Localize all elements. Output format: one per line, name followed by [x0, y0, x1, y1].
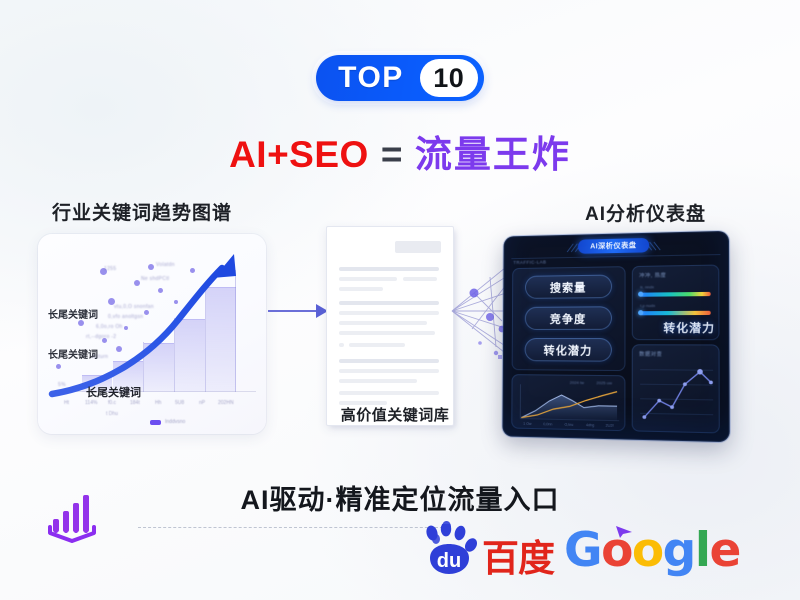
document-text-line — [339, 379, 417, 383]
document-text-line — [349, 343, 405, 347]
footer-slogan: AI驱动·精准定位流量入口 — [0, 478, 800, 517]
gauge-sub-label: tr, nndx — [640, 284, 654, 289]
document-text-line — [403, 277, 437, 281]
purple-cursor-arrow-icon — [614, 525, 636, 539]
document-caption: 高价值关键词库 — [327, 404, 463, 425]
top-badge-container: TOP 10 — [0, 55, 800, 101]
bar-chart-podium-icon — [44, 487, 106, 545]
footer-divider — [138, 527, 448, 528]
area-x-tick: 0,0nn — [543, 422, 552, 426]
document-text-line — [339, 287, 383, 291]
x-tick: f0.c — [108, 400, 116, 406]
trend-chart-plot: 1255 Volatdn Ne shdPCtl vtu,0,O snonfan … — [38, 234, 266, 434]
title-part-aiseo: AI+SEO — [229, 134, 369, 175]
dashboard-brand-label: TRAFFIC-LAB — [513, 259, 546, 265]
gauge-bar-competition — [640, 311, 711, 315]
baidu-du-text: du — [437, 550, 461, 572]
gauge-handle[interactable] — [638, 310, 643, 315]
x-tick: nP — [199, 400, 205, 406]
blurred-term: vtu,0,O snonfan — [114, 304, 154, 310]
document-text-line — [339, 391, 439, 395]
right-section-caption: AI分析仪表盘 — [585, 199, 706, 226]
document-text-line — [339, 277, 397, 281]
area-x-tick: O,tnu — [564, 423, 573, 427]
keyword-bubble — [134, 280, 140, 286]
line-chart-svg — [632, 344, 720, 433]
baidu-logo: du 百度 — [420, 524, 554, 576]
metric-button-conversion[interactable]: 转化潜力 — [525, 338, 612, 362]
document-header-chip — [395, 241, 441, 253]
blurred-term: rt,--dgoro -2 — [86, 334, 116, 340]
flow-arrow-icon — [268, 300, 330, 322]
x-tick: 202HN — [218, 400, 234, 406]
keyword-bubble — [174, 300, 178, 304]
top-badge: TOP 10 — [316, 55, 484, 101]
keyword-bubble — [158, 288, 163, 293]
google-logo: G o o g l e — [564, 527, 740, 574]
x-tick: 5U8 — [175, 400, 184, 406]
google-letter-o2: o — [632, 527, 663, 574]
x-tick: 114% — [85, 400, 97, 406]
x-tick: 184t — [130, 400, 140, 406]
keyword-bubble — [124, 326, 128, 330]
dashboard-title-pill: AI深析仪表盘 — [578, 238, 649, 254]
baidu-paw-icon: du — [420, 524, 480, 576]
blurred-term: Ne shdPCtl — [141, 276, 169, 282]
dashboard-line-chart-panel: 数据对查 — [632, 344, 720, 433]
gauge-panel-title: 冲冲, 热度 — [639, 272, 666, 280]
top-badge-label: TOP — [338, 63, 420, 93]
decor-dot — [442, 521, 451, 532]
area-x-tick: 1 Ow — [523, 422, 531, 426]
area-x-tick: 2U2f — [606, 424, 614, 428]
keyword-label: 长尾关键词 — [48, 306, 98, 321]
title-equals-sign: = — [381, 134, 403, 175]
keyword-document — [326, 226, 454, 426]
document-text-line — [339, 301, 439, 305]
gauge-sub-label: t,p nudx — [640, 303, 655, 308]
keyword-bubble — [148, 264, 154, 270]
x-tick: Ht — [64, 400, 69, 406]
blurred-term: 6,0o,ro Oh — [96, 324, 123, 330]
keyword-label: 长尾关键词 — [86, 384, 141, 400]
blurred-term: 1255 — [104, 266, 116, 272]
poster-canvas: TOP 10 AI+SEO=流量王炸 行业关键词趋势图谱 AI分析仪表盘 — [0, 0, 800, 600]
metric-button-competition[interactable]: 竞争度 — [525, 306, 612, 330]
document-text-line — [339, 267, 439, 271]
legend-label: Inddvsno — [165, 419, 185, 425]
google-letter-l: l — [695, 527, 710, 574]
gauge-handle[interactable] — [638, 292, 643, 297]
google-letter-G: G — [564, 527, 601, 574]
gauge-overlay-label: 转化潜力 — [663, 319, 715, 336]
search-engine-logos: du 百度 G o o g l e — [420, 524, 740, 576]
baidu-logo-text: 百度 — [482, 541, 554, 576]
area-x-tick: 4dhg — [586, 423, 594, 427]
metric-button-search-volume[interactable]: 搜索量 — [525, 275, 612, 299]
dashboard-metrics-panel: 搜索量 竞争度 转化潜力 — [512, 266, 626, 371]
keyword-bubble — [56, 364, 61, 369]
blurred-term: 0,vfo anoltgsn — [108, 314, 143, 320]
dashboard-area-chart-panel: 2024 Iw 2025 uw 1 Ow 0,0nn O,tnu 4dhg 2 — [511, 374, 625, 431]
gauge-bar-heat — [640, 292, 710, 296]
legend-swatch — [150, 420, 161, 425]
blurred-term: 5% — [58, 382, 66, 388]
keyword-bubble — [190, 268, 195, 273]
decor-dot — [432, 534, 440, 544]
document-text-line — [339, 343, 344, 347]
document-text-line — [339, 311, 439, 315]
document-text-line — [339, 321, 427, 325]
keyword-label: 长尾关键词 — [48, 346, 98, 361]
document-text-line — [339, 369, 439, 373]
x-axis-label: t Dhu — [106, 411, 118, 417]
left-section-caption: 行业关键词趋势图谱 — [52, 198, 232, 225]
chart-legend: Inddvsno — [150, 419, 185, 425]
blurred-term: Volatdn — [156, 262, 175, 268]
x-tick: Hh — [155, 400, 161, 406]
dashboard-gauge-panel: 冲冲, 热度 tr, nndx t,p nudx 转化潜力 — [632, 265, 720, 341]
google-letter-e: e — [709, 527, 739, 574]
trend-chart-card: 1255 Volatdn Ne shdPCtl vtu,0,O snonfan … — [38, 234, 266, 434]
document-text-line — [339, 331, 435, 335]
google-letter-g: g — [663, 527, 695, 574]
keyword-bubble — [116, 346, 122, 352]
top-badge-number: 10 — [420, 59, 478, 97]
keyword-bubble — [144, 310, 149, 315]
title-part-traffic: 流量王炸 — [415, 134, 571, 175]
page-title: AI+SEO=流量王炸 — [0, 124, 800, 178]
document-text-line — [339, 359, 439, 363]
ai-dashboard-panel: AI深析仪表盘 TRAFFIC-LAB 搜索量 竞争度 转化潜力 2024 Iw… — [502, 231, 729, 442]
